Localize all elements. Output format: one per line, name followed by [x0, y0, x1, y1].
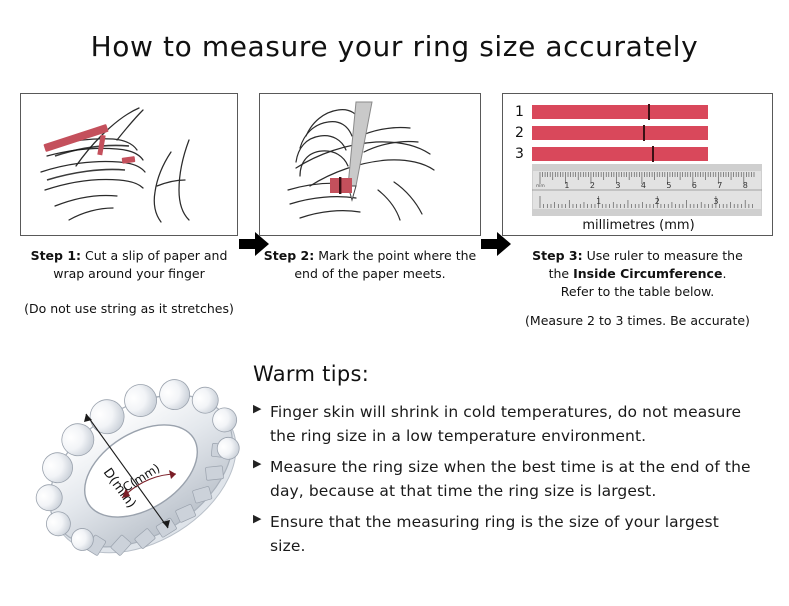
- step-2-panel: [259, 93, 481, 236]
- step-3-line1: Use ruler to measure the: [587, 248, 743, 263]
- step-2-column: Step 2: Mark the point where the end of …: [259, 93, 481, 283]
- triangle-bullet-icon: ▶: [253, 455, 270, 469]
- step-3-inside-circumference: Inside Circumference: [573, 266, 722, 281]
- hand-with-paper-strip-icon: [21, 94, 237, 235]
- step-1-note: (Do not use string as it stretches): [20, 301, 238, 316]
- step-1-column: Step 1: Cut a slip of paper and wrap aro…: [20, 93, 238, 316]
- step-2-caption: Step 2: Mark the point where the end of …: [259, 247, 481, 283]
- page-title: How to measure your ring size accurately: [0, 30, 789, 63]
- triangle-bullet-icon: ▶: [253, 400, 270, 414]
- paper-strip-bar: [532, 105, 708, 119]
- svg-text:1: 1: [596, 197, 601, 206]
- strip-row: 1: [515, 103, 763, 120]
- strip-mark: [643, 125, 645, 141]
- step-1-lead: Step 1:: [31, 248, 81, 263]
- warm-tips-heading: Warm tips:: [253, 362, 753, 386]
- strip-number: 1: [515, 105, 532, 119]
- step-2-lead: Step 2:: [264, 248, 314, 263]
- strip-number: 2: [515, 126, 532, 140]
- svg-text:8: 8: [743, 181, 748, 190]
- step-2-line1: Mark the point where the: [318, 248, 476, 263]
- ring-diagram: D(mm) C(mm): [28, 352, 254, 590]
- step-1-caption: Step 1: Cut a slip of paper and wrap aro…: [20, 247, 238, 283]
- list-item: ▶ Finger skin will shrink in cold temper…: [253, 400, 753, 449]
- steps-row: Step 1: Cut a slip of paper and wrap aro…: [0, 93, 789, 333]
- measured-strips-group: 1 2 3: [515, 103, 763, 166]
- strip-number: 3: [515, 147, 532, 161]
- svg-text:3: 3: [713, 197, 718, 206]
- step-3-panel: 1 2 3: [502, 93, 773, 236]
- step-3-lead: Step 3:: [532, 248, 582, 263]
- svg-text:6: 6: [692, 181, 697, 190]
- step-3-column: 1 2 3: [502, 93, 773, 328]
- hand-marking-paper-icon: [260, 94, 480, 235]
- svg-text:5: 5: [666, 181, 671, 190]
- paper-strip-bar: [532, 126, 708, 140]
- step-3-caption: Step 3: Use ruler to measure the the Ins…: [502, 247, 773, 300]
- strip-row: 3: [515, 145, 763, 162]
- step-3-line3: Refer to the table below.: [502, 283, 773, 301]
- svg-text:mm: mm: [536, 184, 545, 189]
- svg-text:2: 2: [655, 197, 660, 206]
- warm-tip-text: Ensure that the measuring ring is the si…: [270, 510, 753, 559]
- step-3-line2-prefix: the: [549, 266, 574, 281]
- svg-text:1: 1: [564, 181, 569, 190]
- svg-text:2: 2: [590, 181, 595, 190]
- step-1-line1: Cut a slip of paper and: [85, 248, 227, 263]
- step-2-line2: end of the paper meets.: [259, 265, 481, 283]
- warm-tip-text: Finger skin will shrink in cold temperat…: [270, 400, 753, 449]
- svg-text:7: 7: [717, 181, 722, 190]
- svg-text:4: 4: [641, 181, 646, 190]
- ruler-icon: 12345678 mm 123: [532, 164, 762, 216]
- ruler-unit-caption: millimetres (mm): [503, 218, 773, 233]
- svg-text:3: 3: [615, 181, 620, 190]
- strip-mark: [648, 104, 650, 120]
- step-3-note: (Measure 2 to 3 times. Be accurate): [502, 313, 773, 328]
- paper-strip-bar: [532, 147, 708, 161]
- step-3-line2-suffix: .: [722, 266, 726, 281]
- triangle-bullet-icon: ▶: [253, 510, 270, 524]
- strip-row: 2: [515, 124, 763, 141]
- list-item: ▶ Ensure that the measuring ring is the …: [253, 510, 753, 559]
- step-3-line2: the Inside Circumference.: [502, 265, 773, 283]
- strip-mark: [652, 146, 654, 162]
- step-1-panel: [20, 93, 238, 236]
- warm-tip-text: Measure the ring size when the best time…: [270, 455, 753, 504]
- warm-tips-block: Warm tips: ▶ Finger skin will shrink in …: [253, 362, 753, 565]
- step-1-line2: wrap around your finger: [20, 265, 238, 283]
- list-item: ▶ Measure the ring size when the best ti…: [253, 455, 753, 504]
